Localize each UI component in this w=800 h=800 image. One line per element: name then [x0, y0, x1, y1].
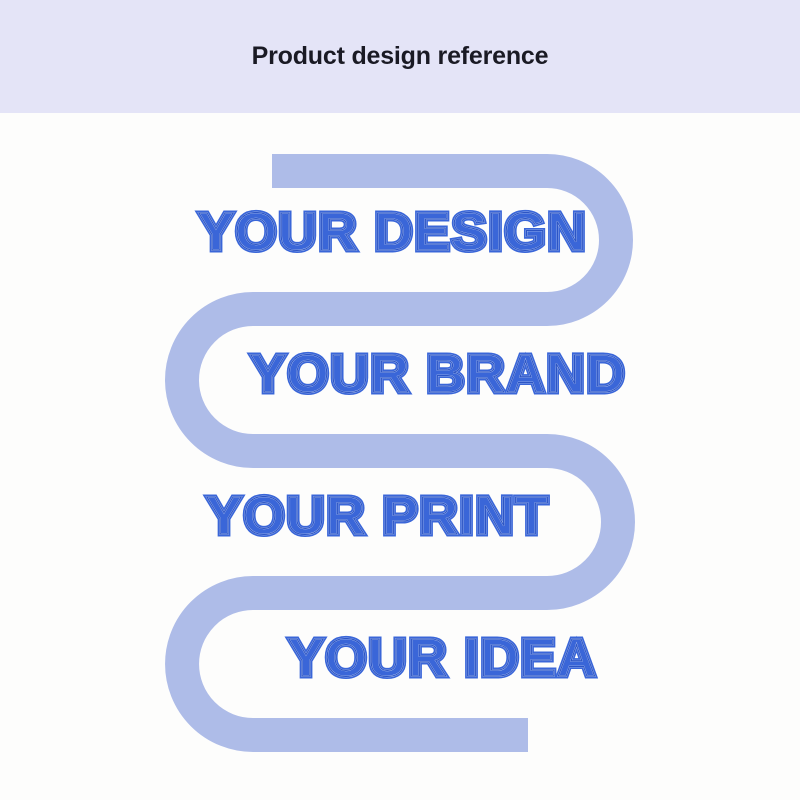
step-label-2-contour: YOUR BRAND	[250, 347, 626, 401]
step-label-3-contour: YOUR PRINT	[206, 489, 549, 543]
header-band: Product design reference	[0, 0, 800, 113]
step-label-4-contour: YOUR IDEA	[288, 631, 597, 685]
artwork-stage: YOUR DESIGN YOUR DESIGN YOUR DESIGN YOUR…	[0, 113, 800, 800]
poster-canvas: Product design reference YOUR DESIGN YOU…	[0, 0, 800, 800]
page-title: Product design reference	[252, 42, 549, 71]
step-label-1-contour: YOUR DESIGN	[198, 205, 587, 259]
